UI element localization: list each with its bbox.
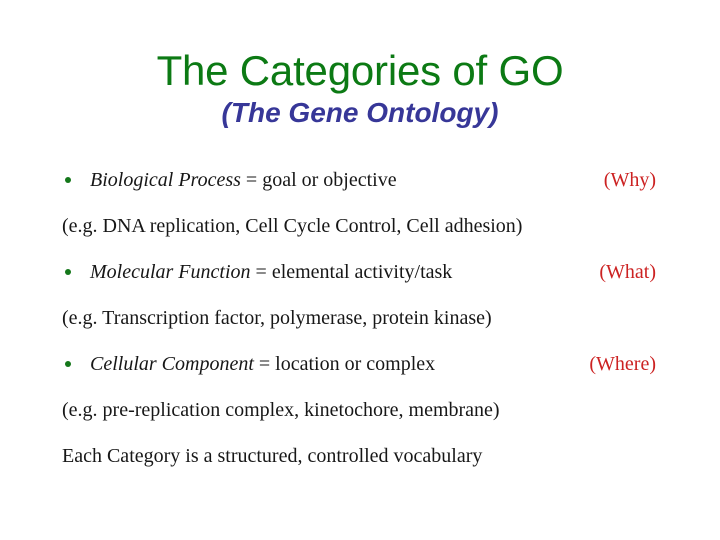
category-separator: =	[241, 169, 262, 191]
page-subtitle: (The Gene Ontology)	[0, 96, 720, 130]
bullet-dot-icon	[65, 361, 71, 367]
example-row-molecular-function: (e.g. Transcription factor, polymerase, …	[62, 306, 650, 352]
page-title: The Categories of GO	[0, 48, 720, 94]
bullet-row-molecular-function: Molecular Function = elemental activity/…	[62, 260, 650, 306]
bullet-row-cellular-component: Cellular Component = location or complex…	[62, 352, 650, 398]
example-row-biological-process: (e.g. DNA replication, Cell Cycle Contro…	[62, 214, 650, 260]
bullet-row-biological-process: Biological Process = goal or objective (…	[62, 168, 650, 214]
category-separator: =	[254, 353, 275, 375]
bullet-line: Cellular Component = location or complex…	[62, 352, 650, 376]
category-annotation: (Where)	[589, 352, 656, 376]
closing-row: Each Category is a structured, controlle…	[62, 444, 650, 490]
body-content: Biological Process = goal or objective (…	[62, 168, 650, 490]
category-name: Biological Process	[90, 169, 241, 191]
title-block: The Categories of GO (The Gene Ontology)	[0, 48, 720, 130]
bullet-line: Biological Process = goal or objective (…	[62, 168, 650, 192]
category-definition: goal or objective	[262, 169, 396, 191]
bullet-text: Cellular Component = location or complex	[90, 352, 435, 376]
example-text: (e.g. DNA replication, Cell Cycle Contro…	[62, 214, 650, 238]
category-definition: location or complex	[275, 353, 435, 375]
example-text: (e.g. Transcription factor, polymerase, …	[62, 306, 650, 330]
category-name: Cellular Component	[90, 353, 254, 375]
category-name: Molecular Function	[90, 261, 251, 283]
bullet-dot-icon	[65, 177, 71, 183]
category-annotation: (What)	[599, 260, 656, 284]
bullet-line: Molecular Function = elemental activity/…	[62, 260, 650, 284]
bullet-text: Molecular Function = elemental activity/…	[90, 260, 452, 284]
slide-canvas: The Categories of GO (The Gene Ontology)…	[0, 0, 720, 540]
category-separator: =	[251, 261, 272, 283]
closing-line: Each Category is a structured, controlle…	[62, 444, 650, 468]
category-definition: elemental activity/task	[272, 261, 453, 283]
example-text: (e.g. pre-replication complex, kinetocho…	[62, 398, 650, 422]
bullet-text: Biological Process = goal or objective	[90, 168, 397, 192]
category-annotation: (Why)	[604, 168, 656, 192]
example-row-cellular-component: (e.g. pre-replication complex, kinetocho…	[62, 398, 650, 444]
bullet-dot-icon	[65, 269, 71, 275]
